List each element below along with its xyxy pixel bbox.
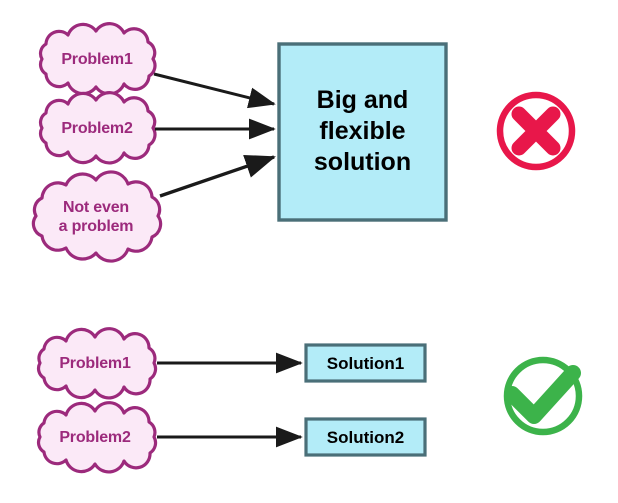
arrow-problem1-to-big-solution [154, 74, 274, 104]
diagram-canvas: Problem1 Problem2 Not even a problem Big… [0, 0, 618, 503]
arrow-not-even-problem-to-big-solution [160, 157, 274, 196]
arrow-layer [0, 0, 618, 503]
